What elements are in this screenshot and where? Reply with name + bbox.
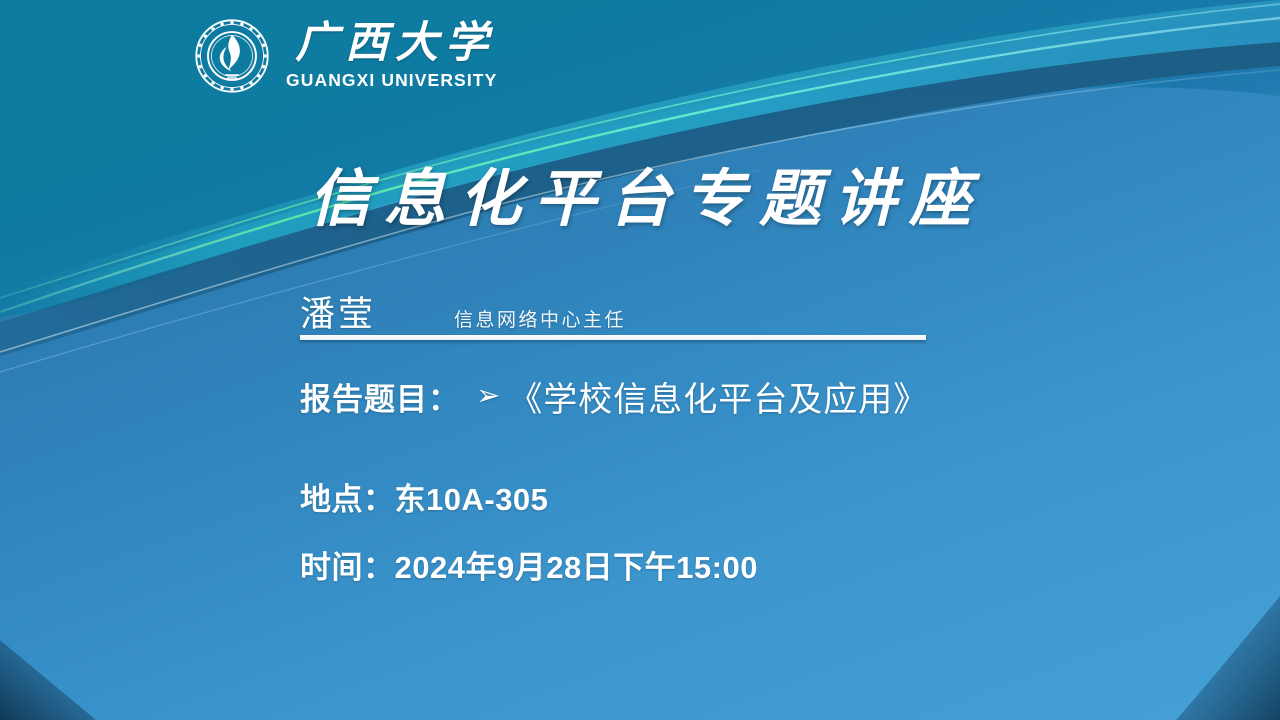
bottom-right-corner-shape	[1176, 596, 1280, 720]
report-topic-label: 报告题目：	[300, 374, 460, 419]
speaker-position: 信息网络中心主任	[454, 305, 626, 332]
logo-name-en: GUANGXI UNIVERSITY	[286, 72, 497, 90]
time-line: 时间：2024年9月28日下午15:00	[300, 542, 758, 587]
report-topic-row: 报告题目： ➢ 《学校信息化平台及应用》	[300, 372, 928, 421]
arrow-bullet-icon: ➢	[476, 382, 500, 411]
logo-name-cn: 广西大学	[288, 22, 495, 65]
report-topic-value: 《学校信息化平台及应用》	[508, 372, 928, 421]
page-title: 信息化平台专题讲座	[0, 148, 1280, 238]
background-artwork	[0, 0, 1280, 720]
guangxi-university-seal-icon	[194, 18, 270, 94]
lecture-poster-slide: 广西大学 GUANGXI UNIVERSITY 信息化平台专题讲座 潘莹 信息网…	[0, 0, 1280, 720]
university-logo: 广西大学 GUANGXI UNIVERSITY	[194, 18, 497, 94]
divider	[300, 335, 926, 340]
speaker-info: 潘莹 信息网络中心主任	[300, 286, 626, 337]
venue-line: 地点：东10A-305	[300, 474, 548, 519]
speaker-name: 潘莹	[300, 286, 376, 337]
bottom-left-corner-shape	[0, 640, 96, 720]
